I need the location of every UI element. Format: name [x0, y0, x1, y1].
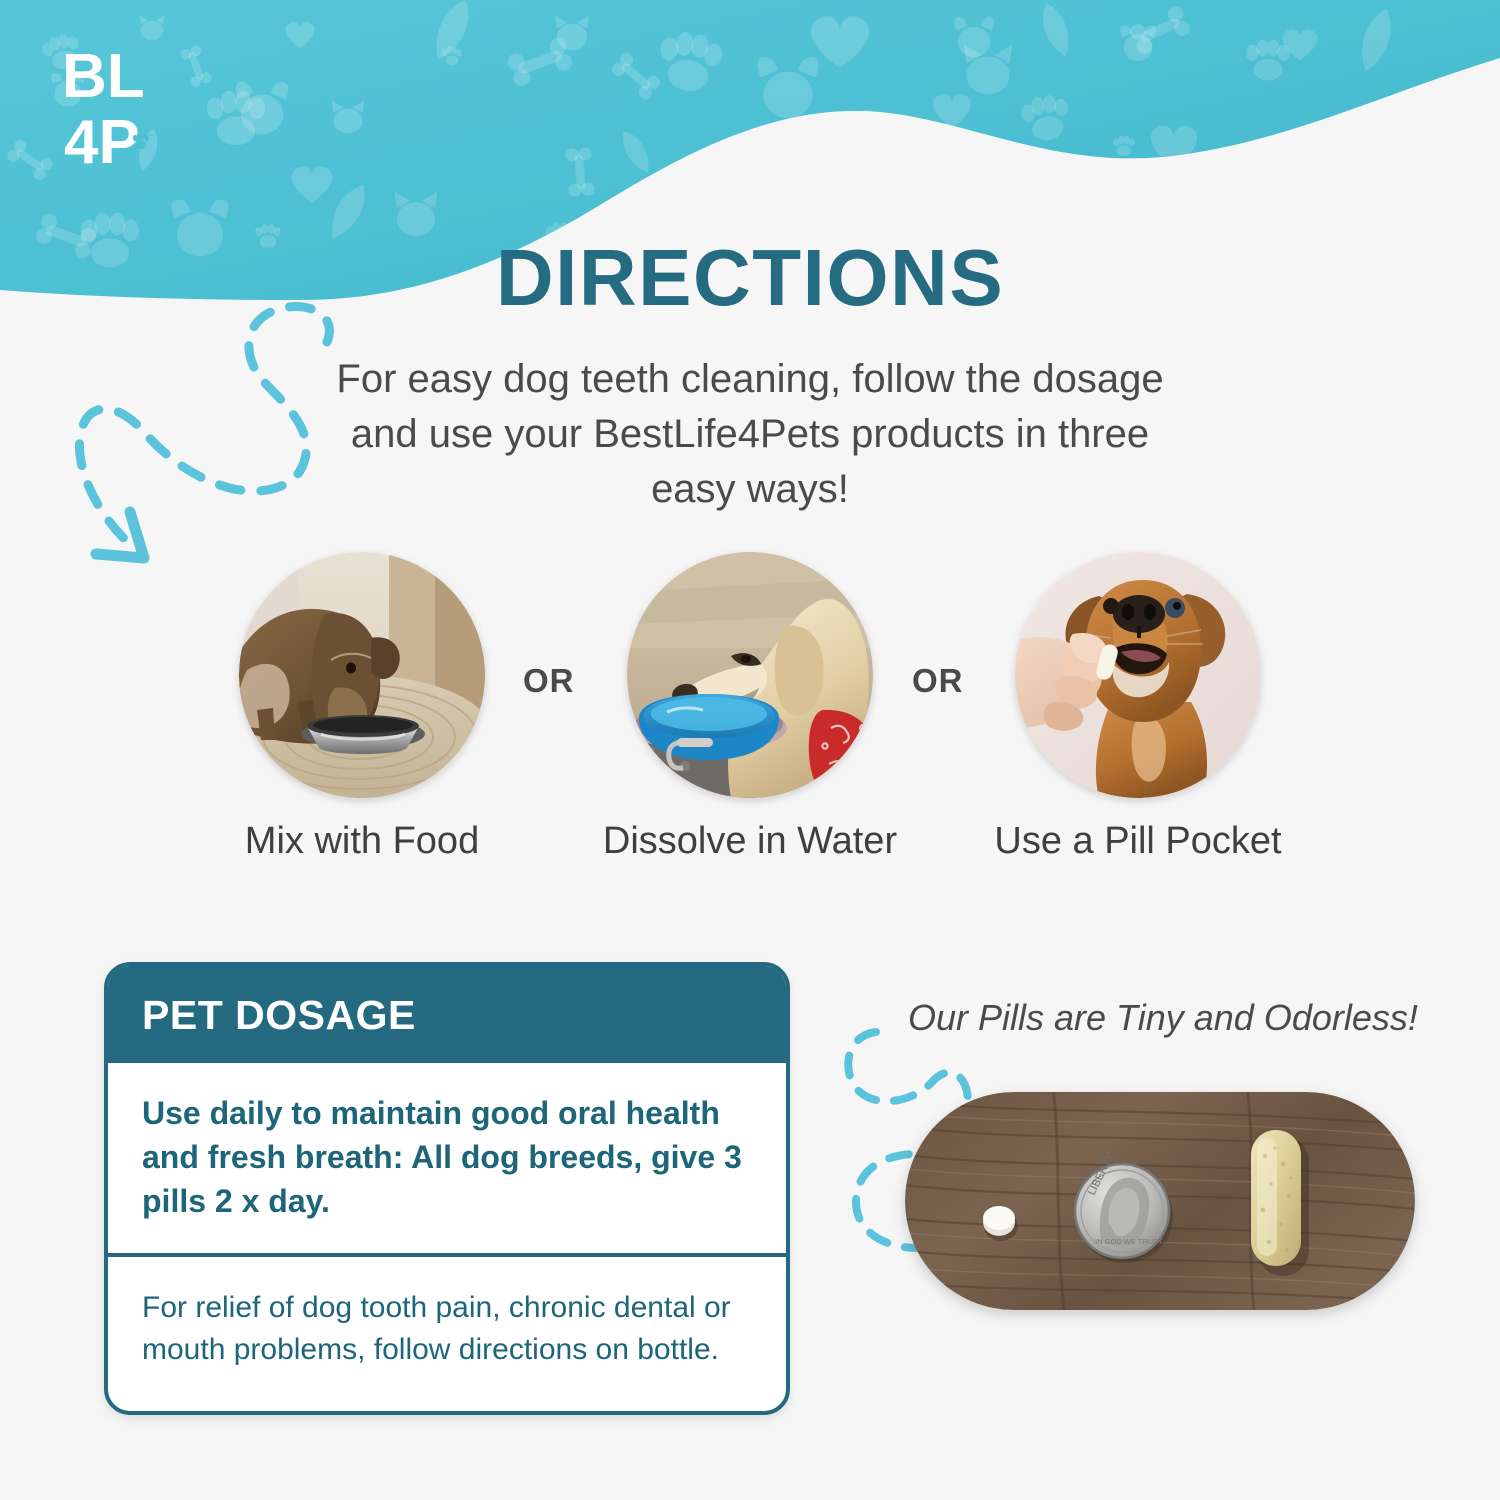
coin-motto-text: IN GOD WE TRUST	[1095, 1237, 1163, 1246]
method-mix-with-food[interactable]: Mix with Food	[212, 552, 512, 863]
intro-paragraph: For easy dog teeth cleaning, follow the …	[330, 352, 1170, 517]
large-beige-capsule-icon	[1251, 1130, 1309, 1276]
method-label: Mix with Food	[212, 820, 512, 863]
method-label: Use a Pill Pocket	[988, 820, 1288, 863]
method-label: Dissolve in Water	[600, 820, 900, 863]
hand-feeding-pill-to-dog-photo	[1015, 552, 1261, 798]
dosage-card-header: PET DOSAGE	[108, 966, 786, 1063]
logo-text-4p: 4P	[64, 108, 140, 177]
dosage-secondary-text: For relief of dog tooth pain, chronic de…	[108, 1257, 786, 1411]
dashed-curved-arrow-icon	[52, 292, 352, 582]
method-use-a-pill-pocket[interactable]: Use a Pill Pocket	[988, 552, 1288, 863]
brand-logo: BL 4P	[62, 45, 172, 180]
labrador-drinking-water-photo	[627, 552, 873, 798]
methods-row: Mix with Food OR	[0, 552, 1500, 872]
logo-text-bl: BL	[62, 45, 145, 111]
dosage-primary-text: Use daily to maintain good oral health a…	[108, 1063, 786, 1257]
or-separator-1: OR	[523, 662, 575, 700]
terrier-eating-from-bowl-photo	[239, 552, 485, 798]
pill-size-comparison-photo: LIBERTY IN GOD WE TRUST	[905, 1092, 1415, 1310]
or-separator-2: OR	[912, 662, 964, 700]
pet-dosage-card: PET DOSAGE Use daily to maintain good or…	[104, 962, 790, 1415]
method-dissolve-in-water[interactable]: Dissolve in Water	[600, 552, 900, 863]
